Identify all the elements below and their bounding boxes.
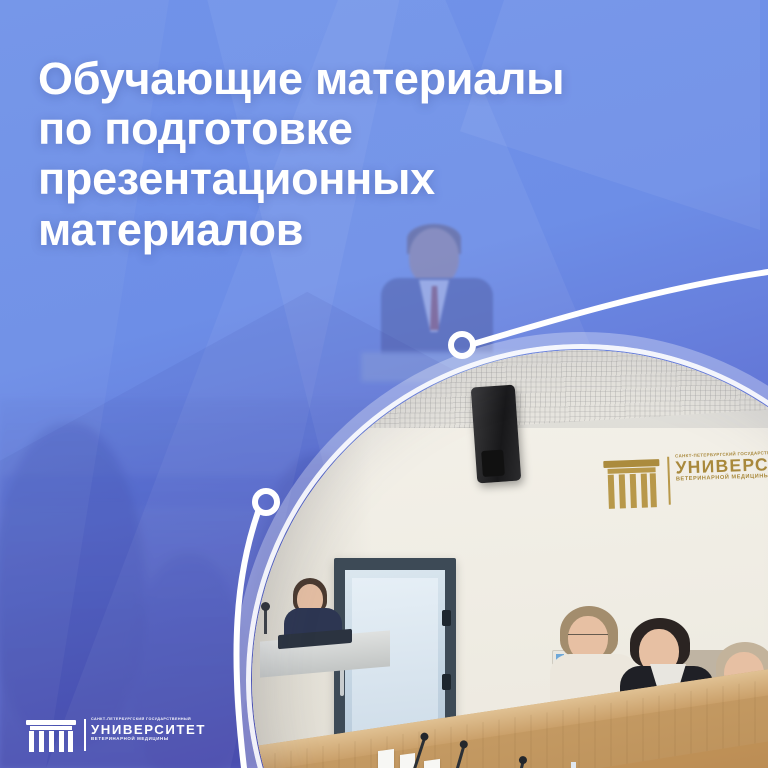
title-line-4: материалов (38, 205, 738, 255)
page-title: Обучающие материалы по подготовке презен… (38, 54, 738, 255)
footer-university-logo: САНКТ-ПЕТЕРБУРГСКИЙ ГОСУДАРСТВЕННЫЙ УНИВ… (26, 714, 226, 756)
title-line-3: презентационных (38, 154, 738, 204)
footer-logo-bottom-line: ВЕТЕРИНАРНОЙ МЕДИЦИНЫ (91, 737, 221, 741)
footer-logo-top-line: САНКТ-ПЕТЕРБУРГСКИЙ ГОСУДАРСТВЕННЫЙ (91, 718, 221, 722)
divider (84, 719, 86, 751)
title-line-2: по подготовке (38, 104, 738, 154)
title-line-1: Обучающие материалы (38, 54, 738, 104)
poster: САНКТ-ПЕТЕРБУРГСКИЙ ГОСУДАРСТВЕННЫЙ УНИВ… (0, 0, 768, 768)
gate-icon (26, 720, 76, 752)
footer-logo-main-line: УНИВЕРСИТЕТ (91, 722, 221, 737)
